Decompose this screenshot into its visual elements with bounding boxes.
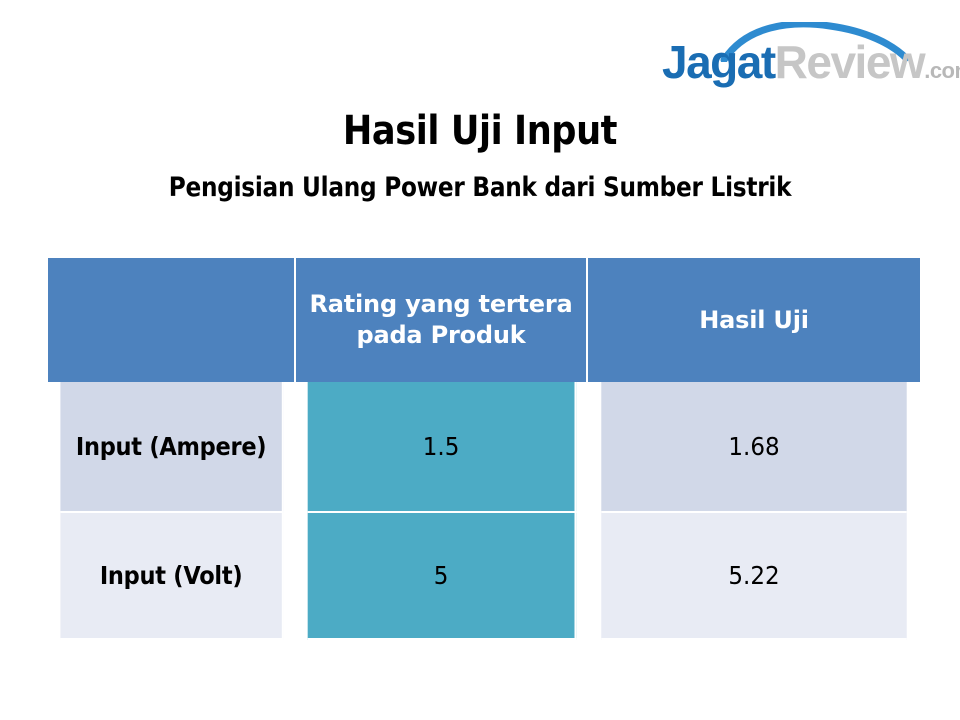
logo-text-review: Review <box>775 36 925 88</box>
row-rating-volt: 5 <box>308 513 577 640</box>
header-rating-line1: Rating yang tertera <box>309 290 572 318</box>
table-header-row: Rating yang tertera pada Produk Hasil Uj… <box>48 258 920 382</box>
input-test-results-table: Rating yang tertera pada Produk Hasil Uj… <box>48 258 920 640</box>
row-result-ampere: 1.68 <box>601 382 906 513</box>
jagatreview-logo: JagatReview.com <box>662 22 950 84</box>
table-row: Input (Volt) 5 5.22 <box>48 513 920 640</box>
header-rating-line2: pada Produk <box>356 321 525 349</box>
page-subtitle: Pengisian Ulang Power Bank dari Sumber L… <box>67 172 893 204</box>
header-cell-rating: Rating yang tertera pada Produk <box>296 258 588 382</box>
logo-text-jagat: Jagat <box>662 36 775 88</box>
page-title: Hasil Uji Input <box>58 107 903 155</box>
row-label-ampere: Input (Ampere) <box>60 382 283 513</box>
row-result-volt: 5.22 <box>601 513 906 640</box>
logo-text-com: .com <box>924 58 960 83</box>
row-rating-ampere: 1.5 <box>308 382 577 513</box>
table-row: Input (Ampere) 1.5 1.68 <box>48 382 920 513</box>
logo-wordmark: JagatReview.com <box>662 39 960 94</box>
header-cell-empty <box>48 258 296 382</box>
row-label-volt: Input (Volt) <box>60 513 283 640</box>
header-cell-result: Hasil Uji <box>588 258 920 382</box>
